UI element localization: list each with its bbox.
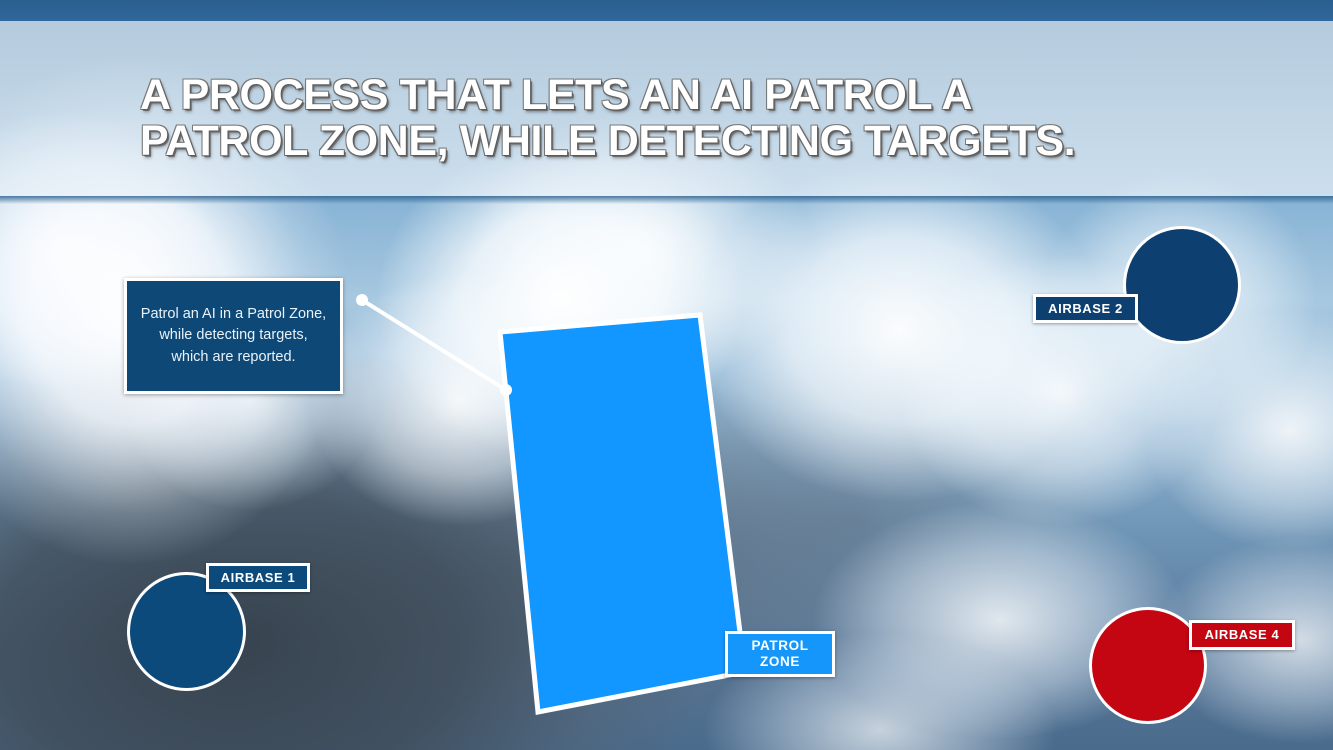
slide-canvas: A process that lets an AI patrol a patro…	[0, 0, 1333, 750]
airbase-1-label[interactable]: AIRBASE 1	[206, 563, 310, 592]
airbase-4-label[interactable]: AIRBASE 4	[1189, 620, 1295, 650]
patrol-description-box[interactable]: Patrol an AI in a Patrol Zone, while det…	[124, 278, 343, 394]
patrol-description-text: Patrol an AI in a Patrol Zone, while det…	[131, 304, 336, 368]
patrol-zone-polygon	[500, 315, 745, 712]
airbase-2-label[interactable]: AIRBASE 2	[1033, 294, 1138, 323]
airbase-2-marker[interactable]	[1123, 226, 1241, 344]
patrol-zone-label[interactable]: PATROL ZONE	[725, 631, 835, 677]
